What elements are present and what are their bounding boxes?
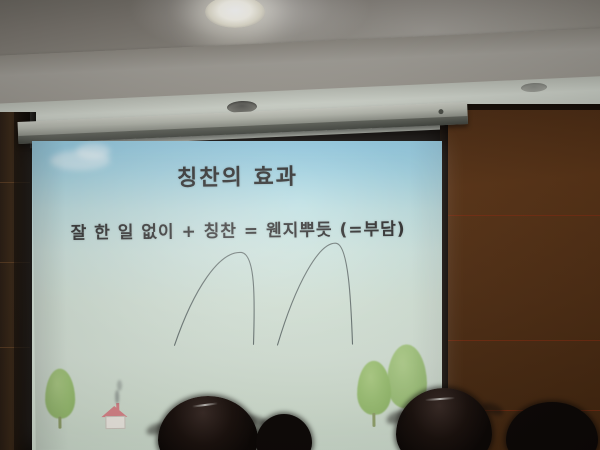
- photo-canvas: 칭찬의 효과 잘 한 일 없이 + 칭찬 = 웬지뿌듯 (=부담): [0, 0, 600, 450]
- house-with-chimney-icon: [101, 406, 127, 430]
- roller-knob-icon: [438, 109, 443, 114]
- ceiling-light-icon: [205, 0, 265, 28]
- chimney-smoke-icon-2: [117, 380, 122, 391]
- bell-curve-right-path: [276, 243, 352, 345]
- bell-curve-left-path: [173, 252, 254, 345]
- chimney-smoke-icon: [115, 390, 119, 404]
- house-body: [105, 416, 125, 429]
- tree-left: [45, 368, 76, 428]
